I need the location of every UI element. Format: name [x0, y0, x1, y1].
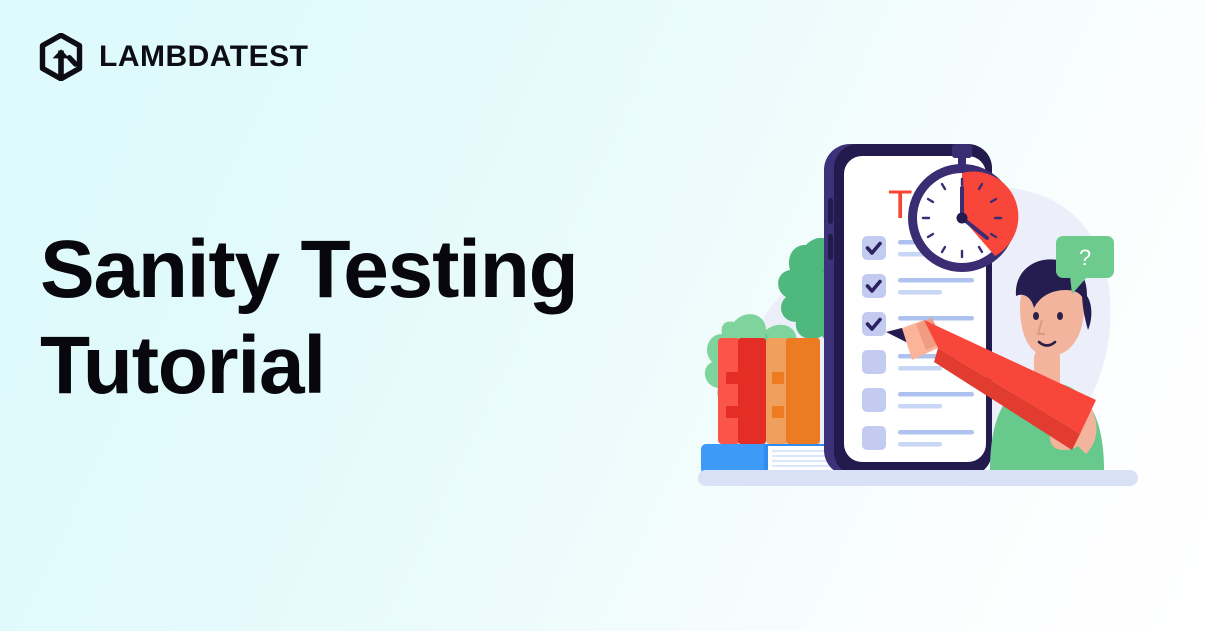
ground-shelf [698, 470, 1138, 486]
lambdatest-logo[interactable]: LAMBDATEST [38, 33, 308, 81]
page-title: Sanity Testing Tutorial [40, 222, 660, 414]
lambdatest-hexagon-arrow-icon [38, 33, 84, 81]
sanity-testing-illustration: Test [690, 110, 1150, 490]
hero-banner: LAMBDATEST Sanity Testing Tutorial [0, 0, 1206, 631]
speech-bubble-text: ? [1079, 245, 1091, 270]
brand-name: LAMBDATEST [99, 42, 308, 72]
